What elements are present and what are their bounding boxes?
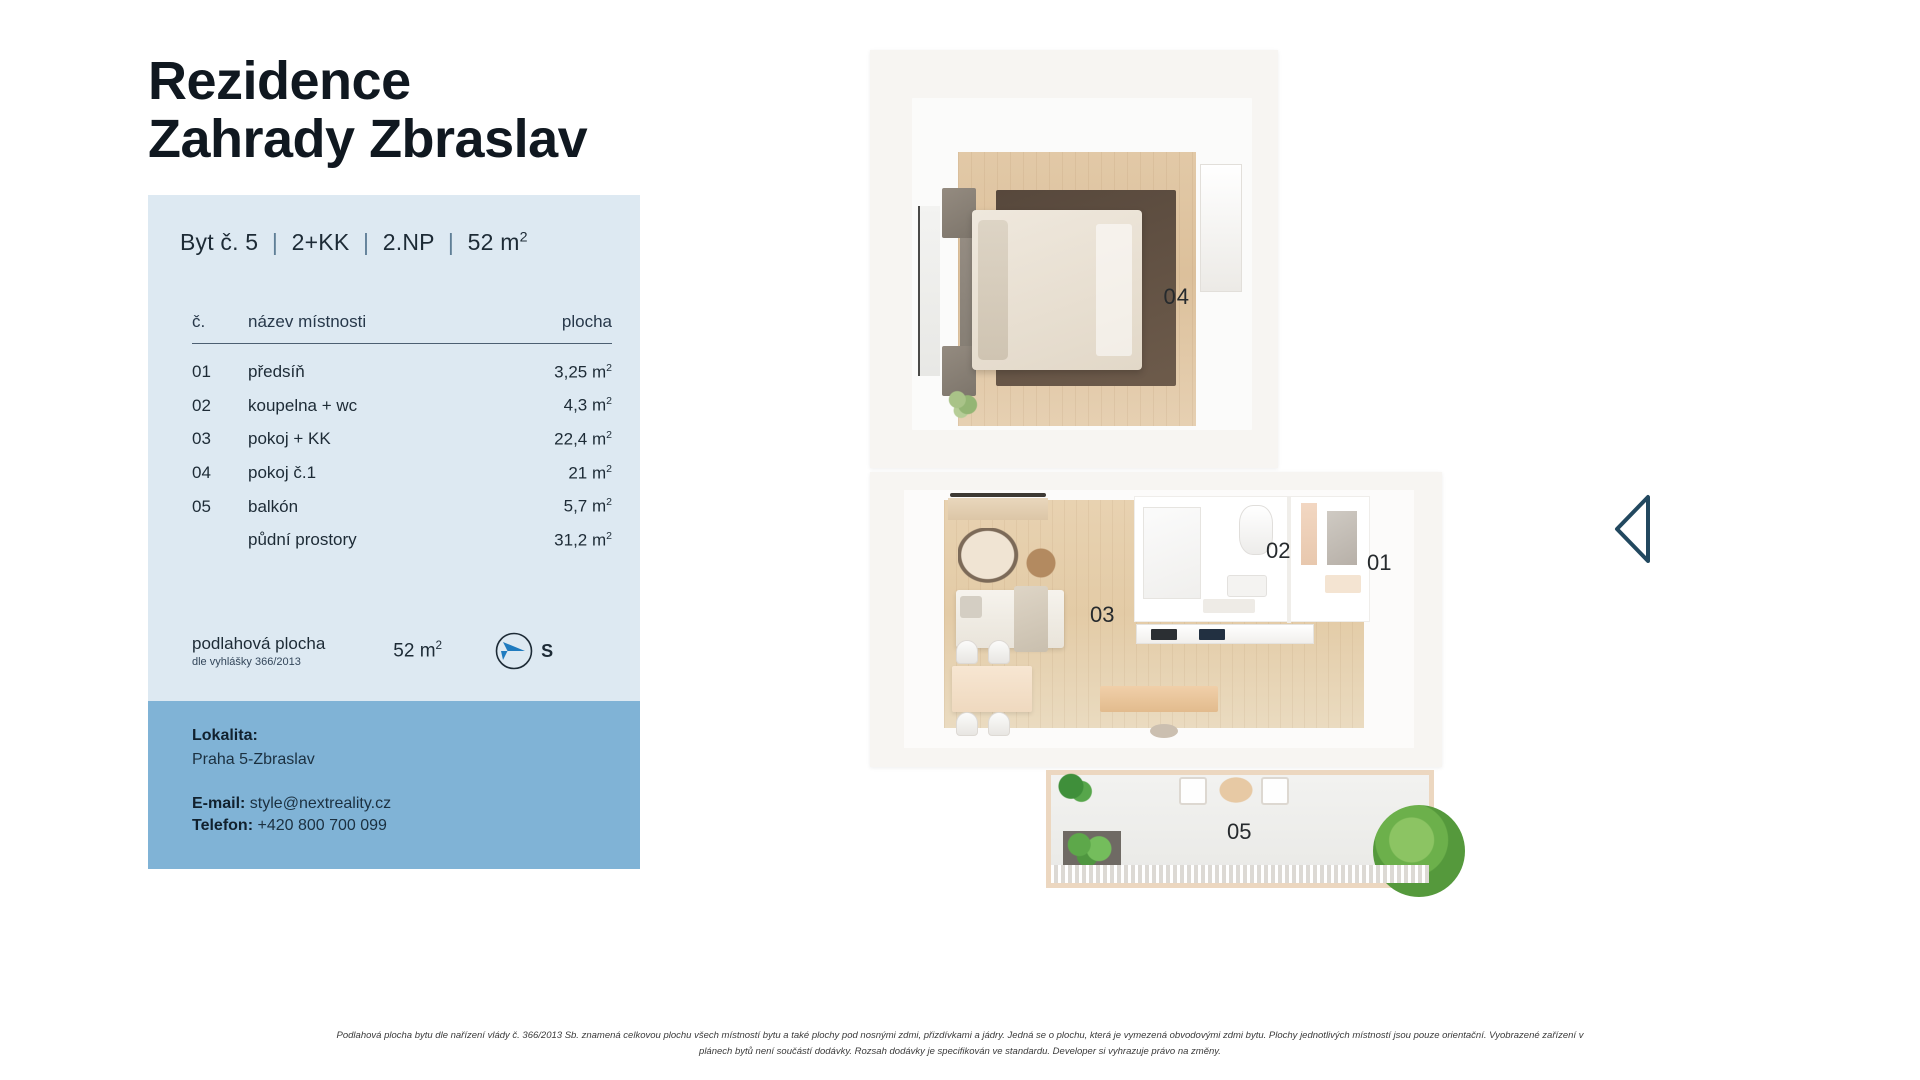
table-row: 05 balkón 5,7 m2 [192, 490, 612, 524]
side-table-icon [1026, 548, 1056, 578]
closet-icon [1301, 503, 1317, 565]
unit-floor: 2.NP [383, 229, 435, 255]
tv-bench-icon [1100, 686, 1218, 712]
lower-interior: 03 02 01 [904, 490, 1414, 748]
bedroom-window [918, 206, 940, 376]
cooktop-icon [1151, 629, 1177, 640]
dining-chair-icon [956, 640, 978, 664]
wall-shelf-icon [948, 498, 1048, 520]
row-room-name: pokoj č.1 [248, 456, 492, 490]
locality-label: Lokalita: [192, 727, 608, 745]
room-label-bedroom: 04 [1164, 284, 1190, 310]
pouf-icon [1150, 724, 1178, 738]
table-row: 03 pokoj + KK 22,4 m2 [192, 422, 612, 456]
planter-icon [1063, 831, 1121, 865]
floor-area-summary: podlahová plocha dle vyhlášky 366/2013 5… [148, 631, 640, 701]
row-area: 4,3 m2 [492, 389, 612, 423]
row-area: 31,2 m2 [492, 523, 612, 557]
room-label-bathroom: 02 [1266, 538, 1290, 564]
bath-mat-icon [1203, 599, 1255, 613]
spec-separator-1: | [272, 229, 278, 255]
row-area: 3,25 m2 [492, 343, 612, 389]
row-area: 22,4 m2 [492, 422, 612, 456]
row-area: 21 m2 [492, 456, 612, 490]
floor-area-sublabel: dle vyhlášky 366/2013 [192, 656, 325, 668]
upper-floor-slab: 04 [870, 50, 1278, 468]
project-title-line2: Zahrady Zbraslav [148, 110, 640, 168]
plant-icon [944, 386, 982, 420]
table-row: 02 koupelna + wc 4,3 m2 [192, 389, 612, 423]
info-column: Rezidence Zahrady Zbraslav Byt č. 5 | 2+… [148, 52, 640, 869]
row-number: 03 [192, 422, 248, 456]
plant-icon [1055, 771, 1095, 805]
floor-area-labels: podlahová plocha dle vyhlášky 366/2013 [192, 634, 325, 668]
room-table-head: č. název místnosti plocha [192, 312, 612, 344]
balcony-table-icon [1219, 777, 1253, 803]
table-row: půdní prostory 31,2 m2 [192, 523, 612, 557]
balcony-chair-icon [1179, 777, 1207, 805]
balcony-chair-icon [1261, 777, 1289, 805]
row-number: 01 [192, 343, 248, 389]
unit-area-superscript: 2 [520, 229, 528, 245]
specification-panel: Byt č. 5 | 2+KK | 2.NP | 52 m2 č. název … [148, 195, 640, 869]
bathroom-hall-block [1134, 496, 1370, 622]
bed-icon [972, 210, 1142, 370]
coffee-table-icon [958, 528, 1024, 588]
oven-icon [1199, 629, 1225, 640]
unit-spec-line: Byt č. 5 | 2+KK | 2.NP | 52 m2 [148, 229, 640, 256]
project-title: Rezidence Zahrady Zbraslav [148, 52, 640, 169]
disclaimer-line-1: Podlahová plocha bytu dle nařízení vlády… [180, 1028, 1740, 1044]
phone-row: Telefon: +420 800 700 099 [192, 817, 608, 835]
row-area: 5,7 m2 [492, 490, 612, 524]
sink-icon [1227, 575, 1267, 597]
table-row: 04 pokoj č.1 21 m2 [192, 456, 612, 490]
dining-chair-icon [988, 640, 1010, 664]
previous-arrow-button[interactable] [1612, 492, 1658, 566]
room-table-body: 01 předsíň 3,25 m2 02 koupelna + wc 4,3 … [192, 343, 612, 557]
spec-separator-2: | [363, 229, 369, 255]
lower-floor-slab: 03 02 01 [870, 472, 1442, 767]
room-schedule-table: č. název místnosti plocha 01 předsíň 3,2… [192, 312, 612, 557]
row-number: 02 [192, 389, 248, 423]
unit-layout: 2+KK [292, 229, 350, 255]
email-row: E-mail: style@nextreality.cz [192, 795, 608, 813]
table-row: 01 předsíň 3,25 m2 [192, 343, 612, 389]
dining-chair-icon [988, 712, 1010, 736]
tree-icon [1373, 805, 1465, 897]
room-label-living: 03 [1090, 602, 1114, 628]
row-room-name: koupelna + wc [248, 389, 492, 423]
disclaimer-line-2: plánech bytů není součástí dodávky. Rozs… [180, 1044, 1740, 1060]
legal-disclaimer: Podlahová plocha bytu dle nařízení vlády… [180, 1028, 1740, 1059]
unit-area: 52 m [468, 229, 520, 255]
header-room-name: název místnosti [248, 312, 492, 344]
compass-icon [494, 631, 534, 671]
row-room-name: půdní prostory [248, 523, 492, 557]
room-bedroom: 04 [912, 98, 1252, 430]
chevron-left-icon[interactable] [1612, 492, 1658, 566]
email-value[interactable]: style@nextreality.cz [250, 795, 391, 812]
row-room-name: předsíň [248, 343, 492, 389]
phone-value[interactable]: +420 800 700 099 [257, 817, 386, 834]
room-table-header-row: č. název místnosti plocha [192, 312, 612, 344]
row-number: 04 [192, 456, 248, 490]
row-number [192, 523, 248, 557]
room-balcony: 05 [1046, 770, 1434, 888]
room-label-hall: 01 [1367, 550, 1391, 576]
row-number: 05 [192, 490, 248, 524]
compass-rose: S [494, 631, 553, 671]
unit-number: Byt č. 5 [180, 229, 258, 255]
nightstand-icon [942, 188, 976, 238]
row-room-name: pokoj + KK [248, 422, 492, 456]
phone-label: Telefon: [192, 817, 253, 834]
wardrobe-icon [1200, 164, 1242, 292]
floor-area-value: 52 m2 [393, 639, 442, 662]
room-label-balcony: 05 [1227, 819, 1251, 845]
floorplan-render: 04 [870, 40, 1610, 990]
contact-spacer [192, 769, 608, 791]
compass-north-letter: S [541, 641, 553, 662]
spec-separator-3: | [448, 229, 454, 255]
shower-icon [1143, 507, 1201, 599]
kitchen-counter-icon [1136, 624, 1314, 644]
floor-area-label: podlahová plocha [192, 634, 325, 654]
floorplan-page: Rezidence Zahrady Zbraslav Byt č. 5 | 2+… [0, 0, 1920, 1080]
mirror-icon [1327, 511, 1357, 565]
email-label: E-mail: [192, 795, 245, 812]
hall-bench-icon [1325, 575, 1361, 593]
header-area: plocha [492, 312, 612, 344]
row-room-name: balkón [248, 490, 492, 524]
blanket-icon [1014, 586, 1048, 652]
dining-table-icon [952, 666, 1032, 712]
project-title-line1: Rezidence [148, 51, 411, 111]
contact-panel: Lokalita: Praha 5-Zbraslav E-mail: style… [148, 701, 640, 869]
header-number: č. [192, 312, 248, 344]
dining-chair-icon [956, 712, 978, 736]
locality-value: Praha 5-Zbraslav [192, 751, 608, 769]
